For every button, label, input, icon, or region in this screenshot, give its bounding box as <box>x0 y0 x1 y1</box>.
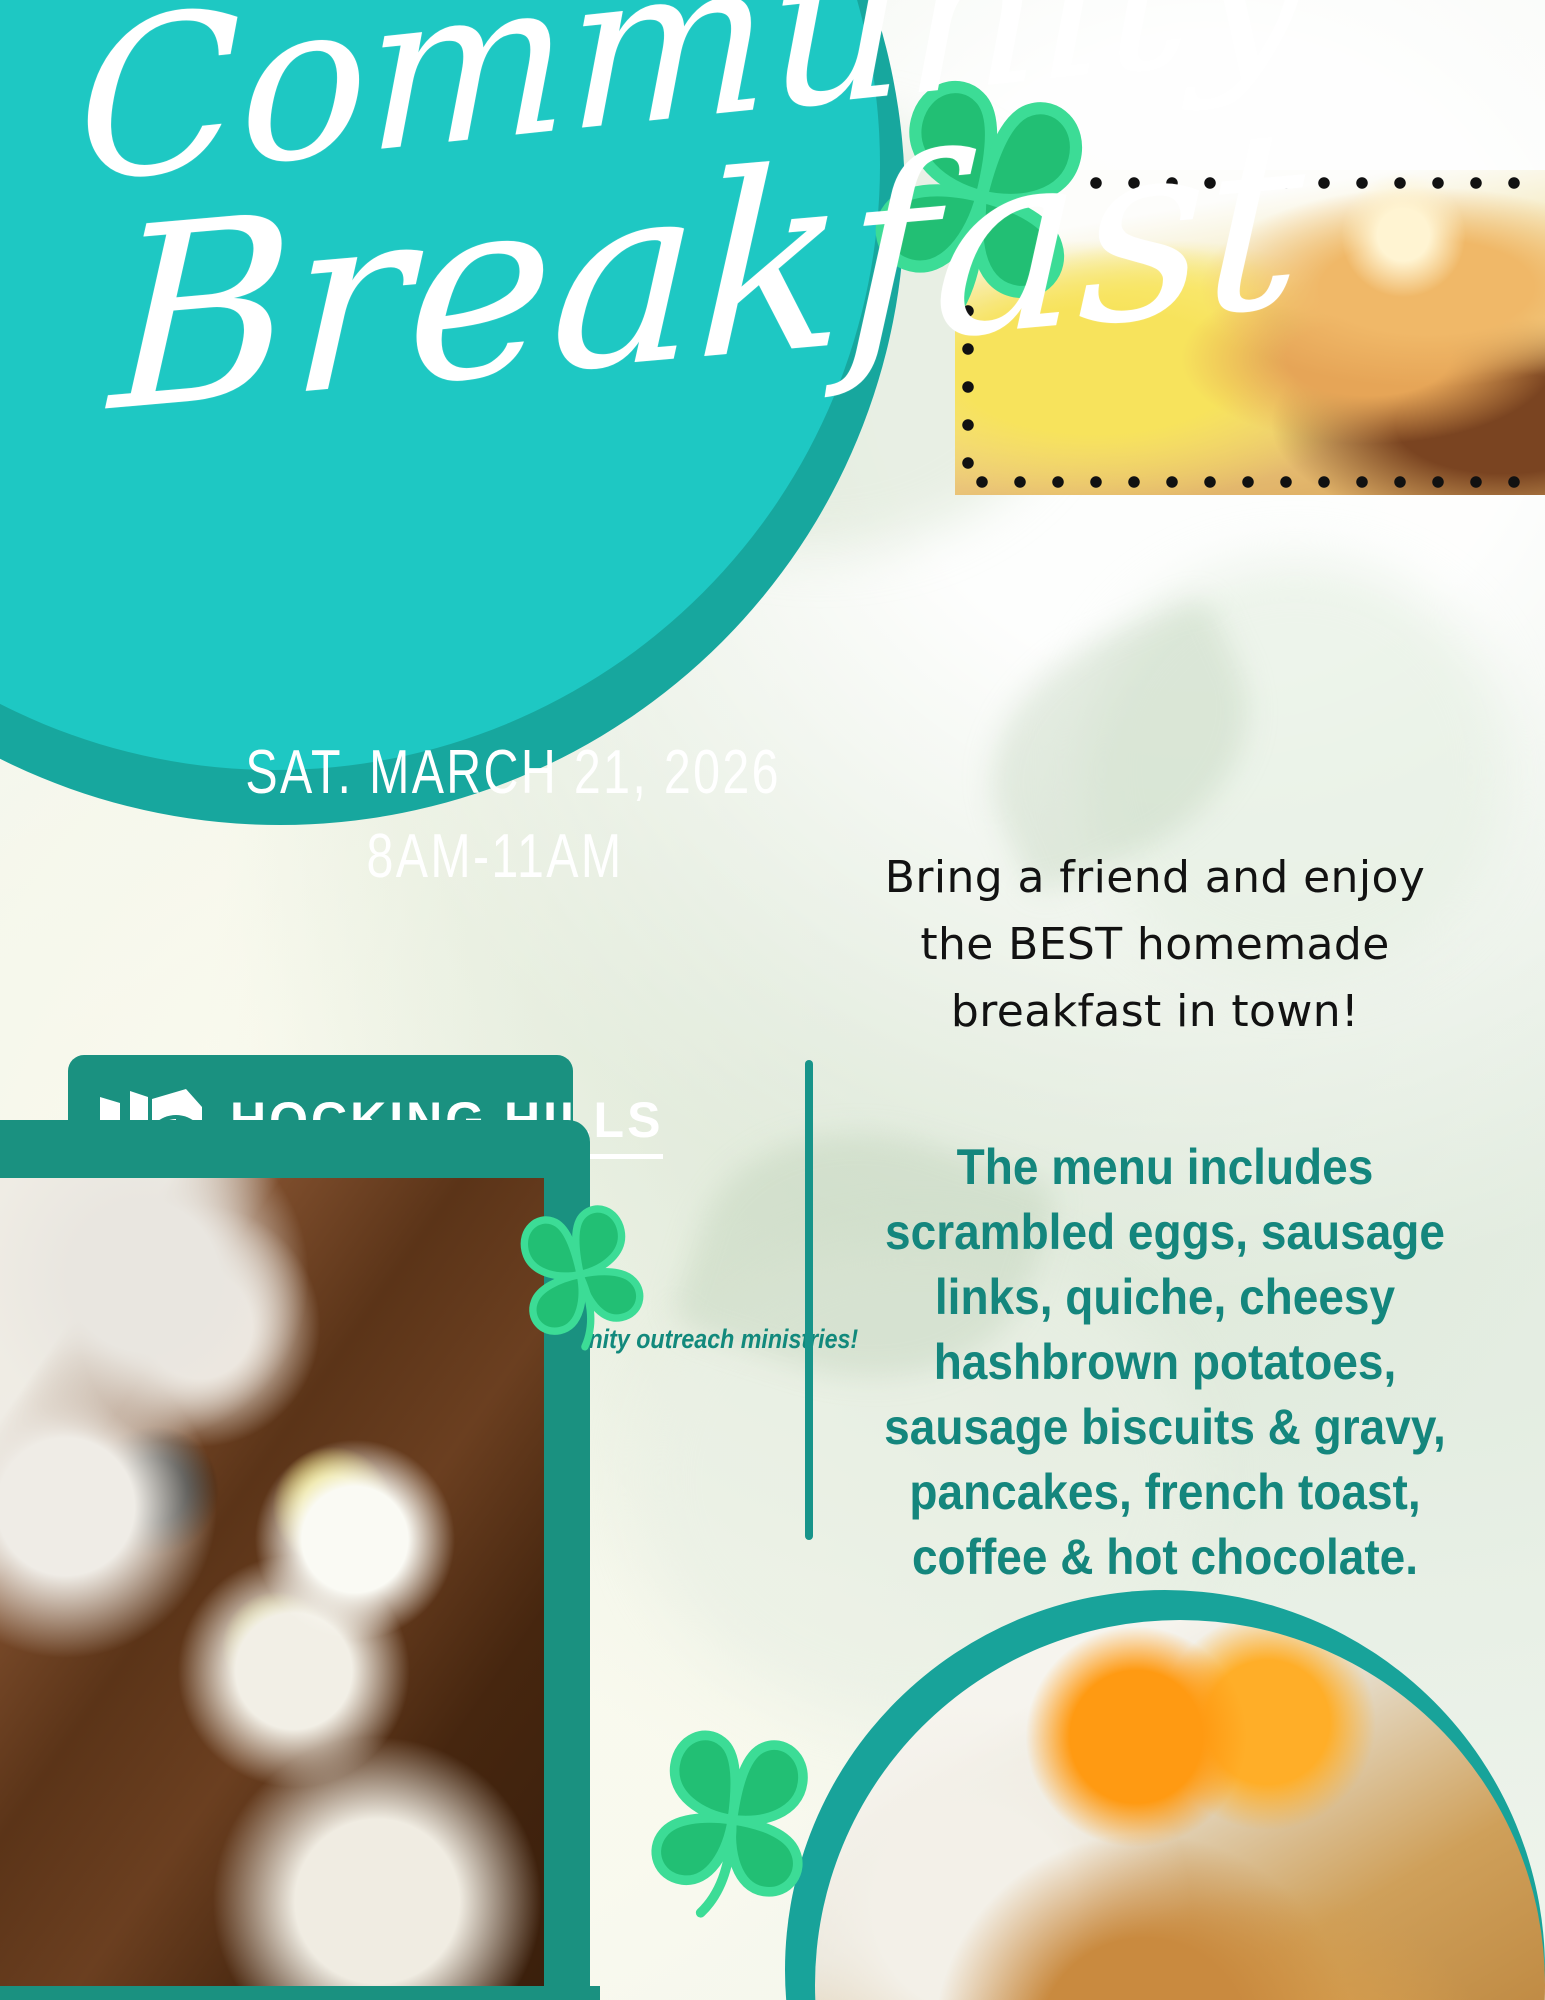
flyer-poster: Community Breakfast SAT. MARCH 21, 2026 … <box>0 0 1545 2000</box>
event-date-block: SAT. MARCH 21, 2026 8AM-11AM <box>175 740 815 889</box>
dot-border-bottom <box>955 469 1545 495</box>
tagline-text: Bring a friend and enjoy the BEST homema… <box>870 845 1440 1046</box>
vertical-divider <box>805 1060 813 1540</box>
event-date: SAT. MARCH 21, 2026 <box>245 740 744 806</box>
bottom-edge-accent <box>0 1986 600 2000</box>
poster-title: Community Breakfast <box>60 22 890 426</box>
shamrock-icon-bottom-left <box>492 1175 667 1360</box>
shamrock-icon-bottom-center <box>618 1688 848 1933</box>
menu-description: The menu includes scrambled eggs, sausag… <box>838 1135 1491 1590</box>
event-time: 8AM-11AM <box>245 824 744 890</box>
coffee-photo <box>0 1178 544 2000</box>
title-line-2: Breakfast <box>57 155 891 427</box>
